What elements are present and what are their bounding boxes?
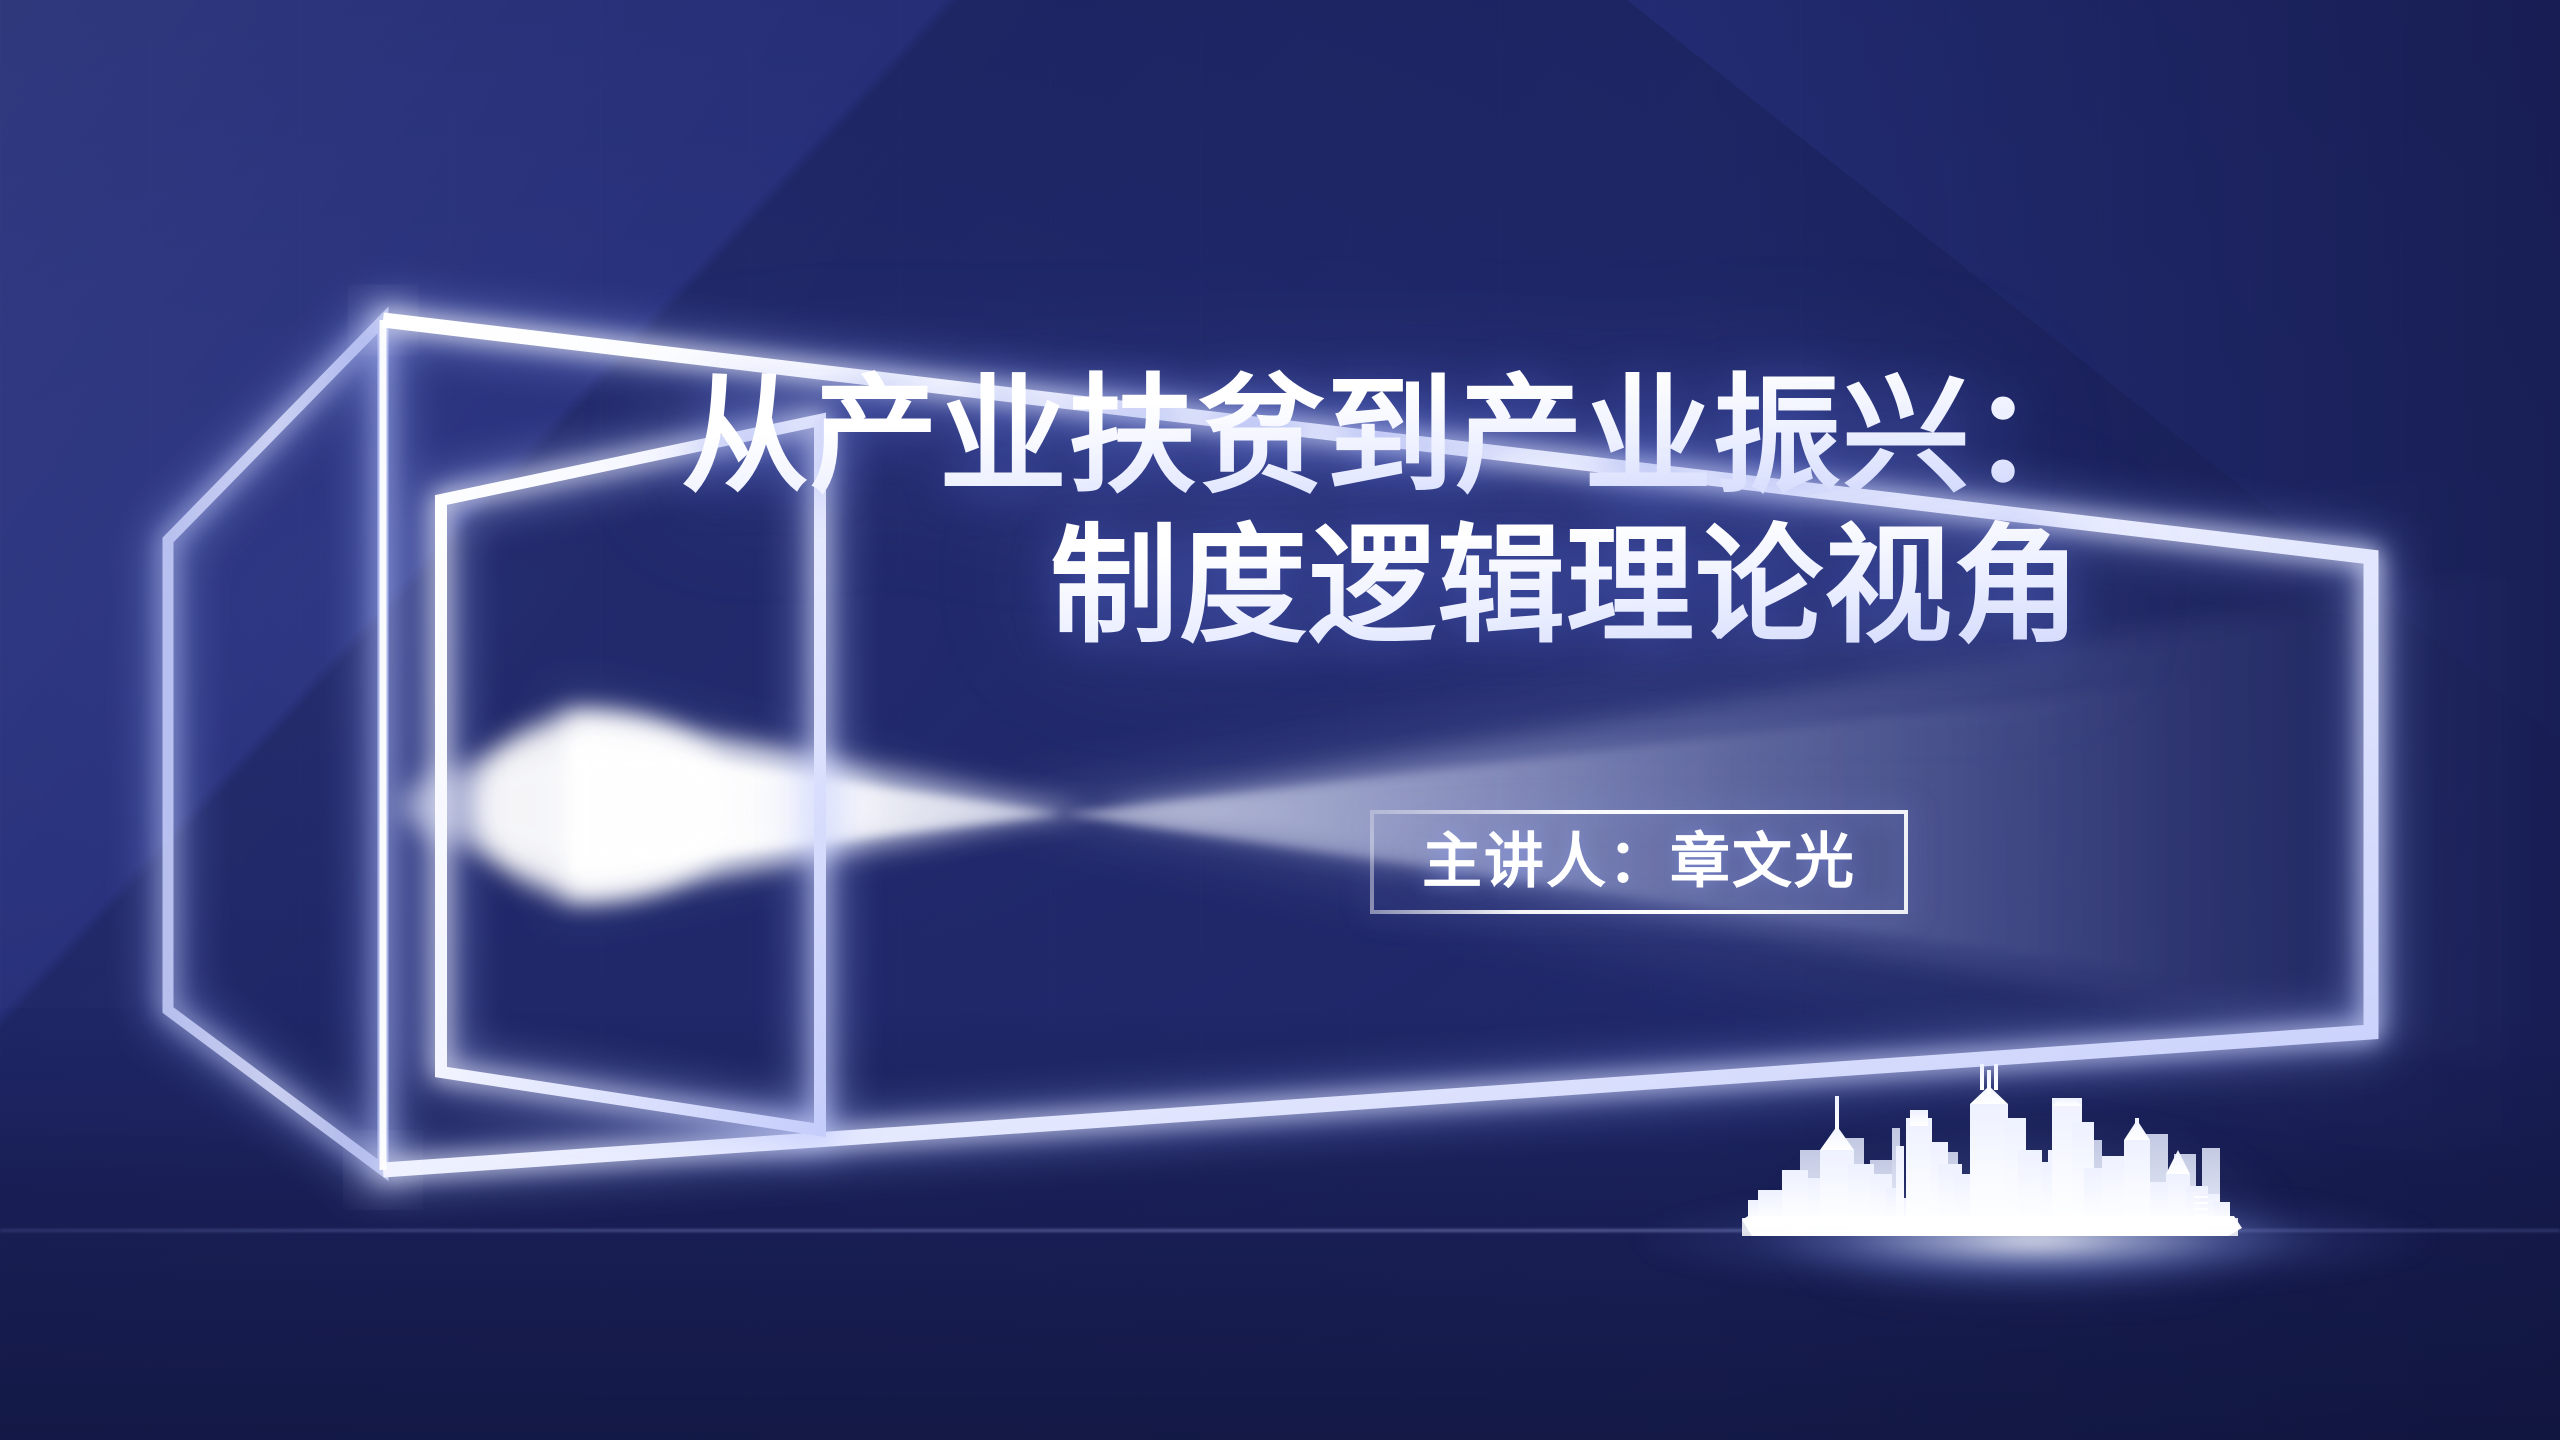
city-skyline-icon [1742,1022,2302,1272]
title-slide: 从产业扶贫到产业振兴： 制度逻辑理论视角 主讲人：章文光 [0,0,2560,1440]
speaker-box: 主讲人：章文光 [1370,810,1908,914]
title-line-2: 制度逻辑理论视角 [0,512,2100,662]
speaker-label: 主讲人：章文光 [1422,832,1856,892]
title-line-1: 从产业扶贫到产业振兴： [0,362,2100,512]
slide-title: 从产业扶贫到产业振兴： 制度逻辑理论视角 [0,362,2100,662]
